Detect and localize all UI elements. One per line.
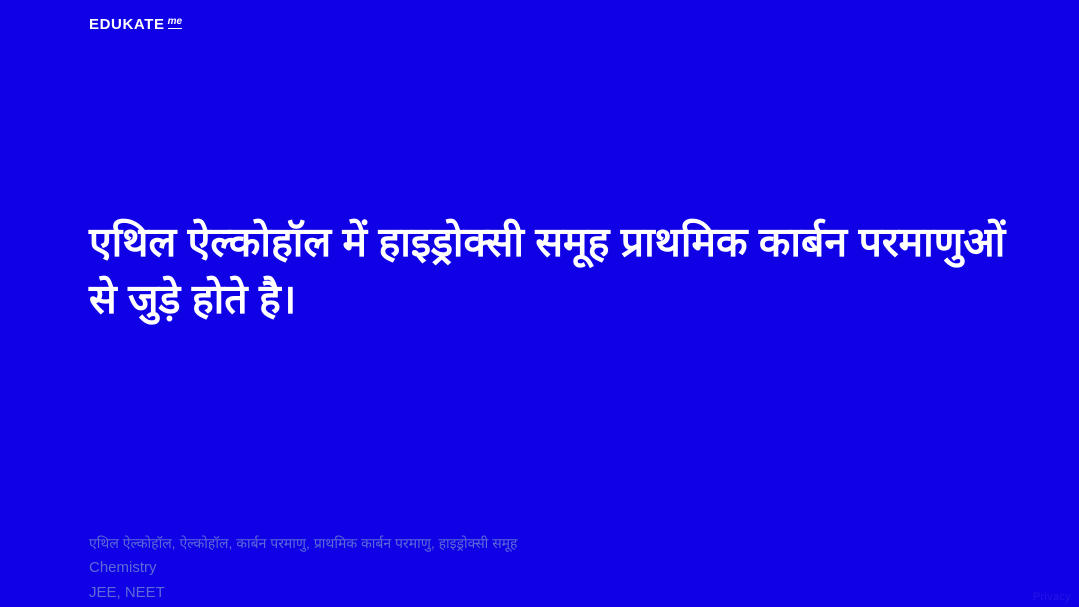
slide-canvas: EDUKATE me एथिल ऐल्कोहॉल में हाइड्रोक्सी… [0, 0, 1079, 607]
meta-exams: JEE, NEET [89, 580, 517, 605]
meta-block: एथिल ऐल्कोहॉल, ऐल्कोहॉल, कार्बन परमाणु, … [89, 531, 517, 605]
brand-suffix: me [168, 16, 182, 29]
headline-line-1: एथिल ऐल्कोहॉल में हाइड्रोक्सी समूह प्राथ… [89, 219, 847, 265]
meta-tags: एथिल ऐल्कोहॉल, ऐल्कोहॉल, कार्बन परमाणु, … [89, 531, 517, 555]
privacy-watermark[interactable]: Privacy [1033, 591, 1071, 603]
headline: एथिल ऐल्कोहॉल में हाइड्रोक्सी समूह प्राथ… [89, 214, 1009, 328]
brand-name: EDUKATE [89, 17, 165, 32]
brand-logo[interactable]: EDUKATE me [89, 17, 182, 32]
meta-subject: Chemistry [89, 555, 517, 580]
